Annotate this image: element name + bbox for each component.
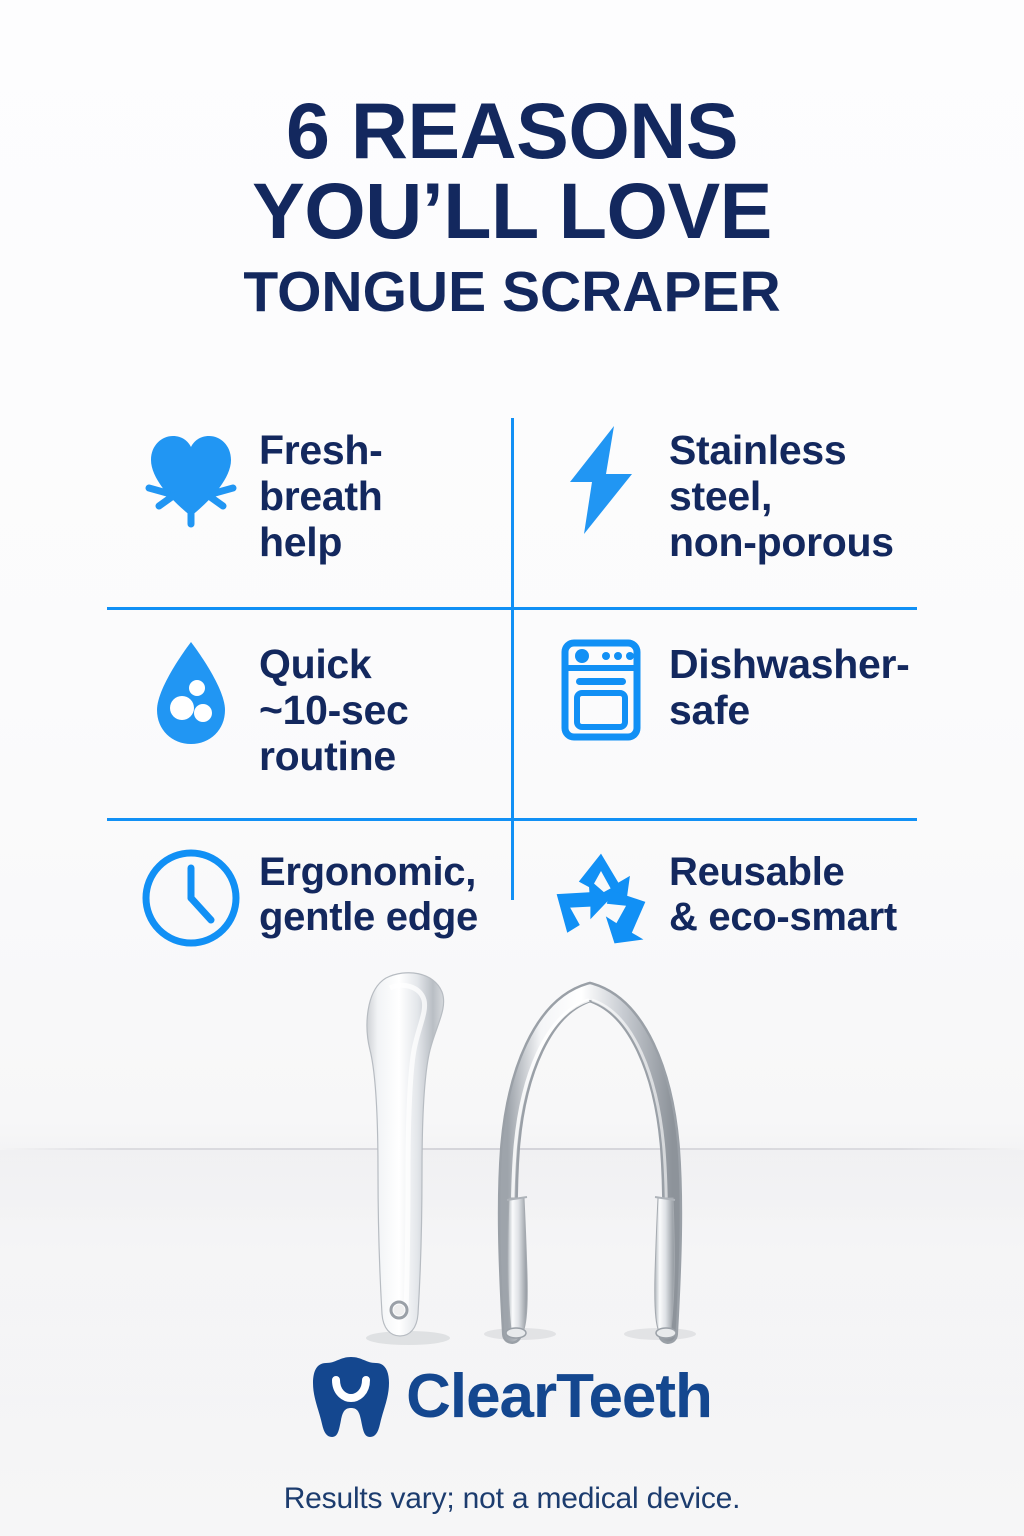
heart-shine-icon <box>137 420 245 534</box>
feature-item-fresh-breath: Fresh- breath help <box>137 420 537 566</box>
brand-logo: ClearTeeth <box>0 1354 1024 1440</box>
feature-label-line-1: Reusable <box>669 850 897 895</box>
feature-label-line-1: Ergonomic, <box>259 850 478 895</box>
feature-label-line-2: breath <box>259 474 383 520</box>
infographic-poster: 6 REASONS YOU’LL LOVE TONGUE SCRAPER <box>0 0 1024 1536</box>
feature-label-line-2: & eco-smart <box>669 895 897 940</box>
feature-label-line-3: routine <box>259 734 409 780</box>
feature-label-line-2: ~10-sec <box>259 688 409 734</box>
headline-line-3: TONGUE SCRAPER <box>0 264 1024 321</box>
product-image <box>330 962 750 1362</box>
feature-label-reusable: Reusable & eco-smart <box>669 842 897 940</box>
water-droplet-icon <box>137 634 245 748</box>
feature-label-line-2: steel, <box>669 474 894 520</box>
feature-label-line-1: Stainless <box>669 428 894 474</box>
dishwasher-icon <box>547 634 655 742</box>
feature-item-dishwasher-safe: Dishwasher- safe <box>547 634 977 742</box>
tooth-icon <box>312 1354 390 1440</box>
headline-line-2: YOU’LL LOVE <box>0 172 1024 250</box>
feature-label-stainless-steel: Stainless steel, non-porous <box>669 420 894 566</box>
feature-item-ergonomic: Ergonomic, gentle edge <box>137 842 567 950</box>
clock-icon <box>137 842 245 950</box>
disclaimer-text: Results vary; not a medical device. <box>0 1482 1024 1516</box>
feature-label-line-1: Dishwasher- <box>669 642 910 688</box>
feature-label-dishwasher-safe: Dishwasher- safe <box>669 634 910 734</box>
feature-grid: Fresh- breath help Stainless steel, non-… <box>107 412 917 972</box>
feature-item-stainless-steel: Stainless steel, non-porous <box>547 420 977 566</box>
lightning-bolt-icon <box>547 420 655 536</box>
feature-label-ergonomic: Ergonomic, gentle edge <box>259 842 478 940</box>
feature-item-reusable: Reusable & eco-smart <box>547 842 977 950</box>
headline-line-1: 6 REASONS <box>0 92 1024 170</box>
feature-label-line-3: help <box>259 520 383 566</box>
feature-label-line-3: non-porous <box>669 520 894 566</box>
recycle-icon <box>547 842 655 950</box>
feature-label-line-2: safe <box>669 688 910 734</box>
page-title: 6 REASONS YOU’LL LOVE TONGUE SCRAPER <box>0 92 1024 321</box>
feature-label-line-1: Fresh- <box>259 428 383 474</box>
brand-name: ClearTeeth <box>406 1366 712 1428</box>
feature-label-line-1: Quick <box>259 642 409 688</box>
feature-label-quick-routine: Quick ~10-sec routine <box>259 634 409 780</box>
feature-label-line-2: gentle edge <box>259 895 478 940</box>
feature-item-quick-routine: Quick ~10-sec routine <box>137 634 537 780</box>
feature-label-fresh-breath: Fresh- breath help <box>259 420 383 566</box>
